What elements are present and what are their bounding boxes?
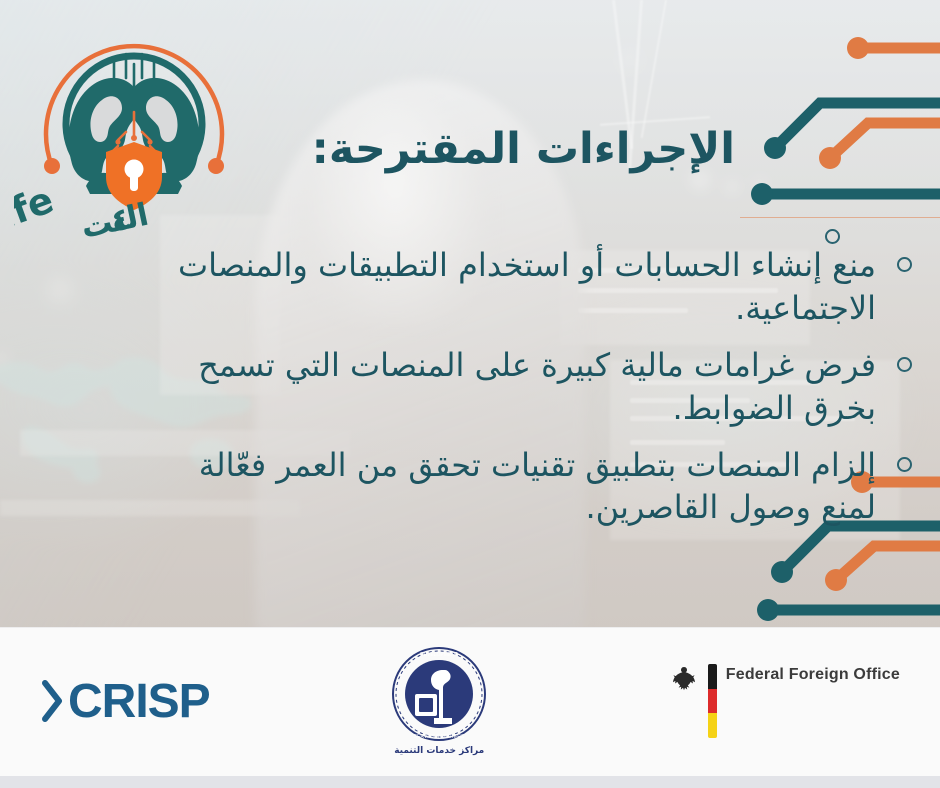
bullet-marker-icon <box>897 457 912 472</box>
chevron-right-icon <box>40 675 66 727</box>
svg-text:DEVELOPMENT: DEVELOPMENT <box>420 652 458 658</box>
footer-logo-bar: CRISP <box>0 627 940 788</box>
logo-arc-dot-right <box>208 158 224 174</box>
german-flag-bar <box>708 664 717 738</box>
crisp-wordmark: CRISP <box>68 674 210 729</box>
list-item-text: إلزام المنصات بتطبيق تقنيات تحقق من العم… <box>199 446 876 527</box>
circular-seal-icon: DEVELOPMENT SERVICES CENTERS <box>391 646 487 742</box>
poster-root: Safe ٤ النت الإجراءات المقترحة: منع إنشا… <box>0 0 940 788</box>
logo-arc-dot-left <box>44 158 60 174</box>
brand-logo: Safe ٤ النت <box>14 14 254 254</box>
seal-arabic-label: مراكز خدمات التنمية <box>394 746 484 756</box>
page-title: الإجراءات المقترحة: <box>312 126 735 173</box>
logo-latin-text: Safe <box>14 178 59 250</box>
footer-logo-development-services-centers[interactable]: DEVELOPMENT SERVICES CENTERS مراكز خدمات… <box>391 646 487 756</box>
bottom-edge-strip <box>0 776 940 788</box>
list-item: إلزام المنصات بتطبيق تقنيات تحقق من العم… <box>158 444 918 530</box>
german-eagle-icon <box>669 664 699 694</box>
footer-logo-federal-foreign-office[interactable]: Federal Foreign Office <box>669 664 900 738</box>
list-item: منع إنشاء الحسابات أو استخدام التطبيقات … <box>158 244 918 330</box>
federal-foreign-office-label: Federal Foreign Office <box>726 664 900 684</box>
bullet-marker-decorative <box>825 229 840 244</box>
footer-logo-crisp[interactable]: CRISP <box>40 674 210 729</box>
logo-arabic-text: النت <box>78 197 152 246</box>
bullet-marker-icon <box>897 357 912 372</box>
svg-text:SERVICES CENTERS: SERVICES CENTERS <box>414 734 465 740</box>
proposed-measures-list: منع إنشاء الحسابات أو استخدام التطبيقات … <box>158 244 918 543</box>
list-item-text: فرض غرامات مالية كبيرة على المنصات التي … <box>198 346 876 427</box>
bullet-marker-icon <box>897 257 912 272</box>
list-item-text: منع إنشاء الحسابات أو استخدام التطبيقات … <box>178 246 876 327</box>
list-item: فرض غرامات مالية كبيرة على المنصات التي … <box>158 344 918 430</box>
